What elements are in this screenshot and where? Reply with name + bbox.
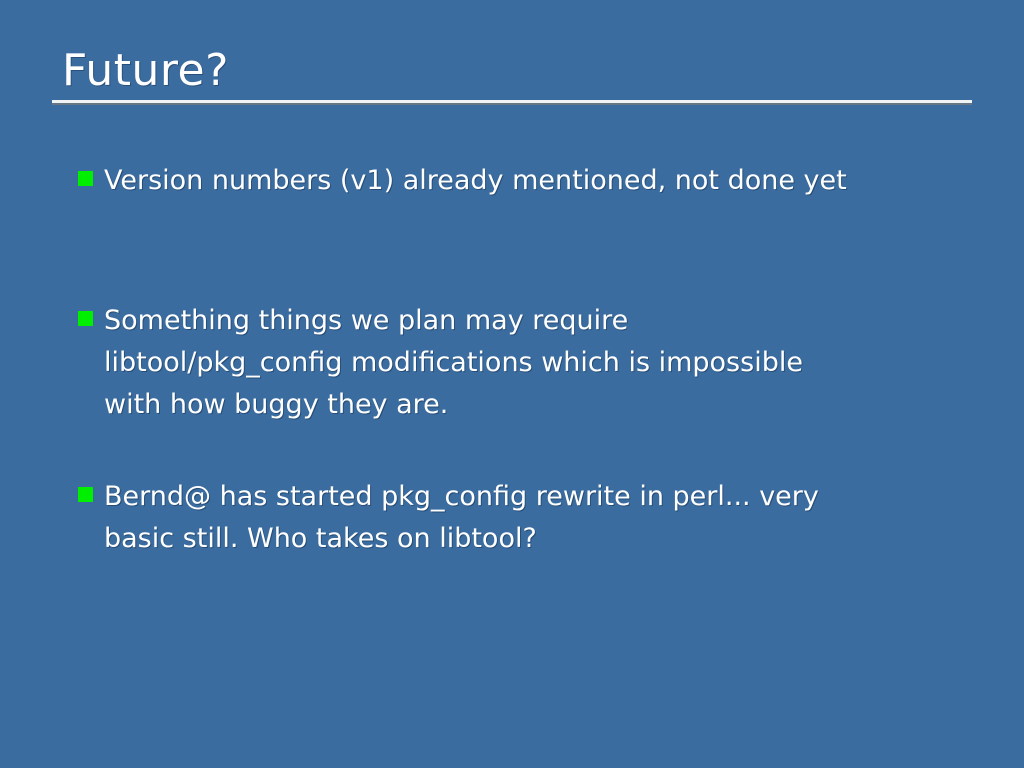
bullet-text: Version numbers (v1) already mentioned, …: [104, 160, 978, 202]
bullet-line: with how buggy they are.: [104, 384, 978, 426]
list-item: Bernd@ has started pkg_config rewrite in…: [78, 476, 978, 560]
bullet-line: basic still. Who takes on libtool?: [104, 518, 978, 560]
green-square-bullet-icon: [78, 311, 93, 326]
bullet-text: Something things we plan may require lib…: [104, 300, 978, 426]
page-title: Future?: [52, 44, 972, 98]
presentation-slide: Future? Version numbers (v1) already men…: [0, 0, 1024, 768]
bullet-text: Bernd@ has started pkg_config rewrite in…: [104, 476, 978, 560]
list-item: Something things we plan may require lib…: [78, 300, 978, 426]
title-underline-rule: [52, 100, 972, 103]
list-item: Version numbers (v1) already mentioned, …: [78, 160, 978, 202]
green-square-bullet-icon: [78, 171, 93, 186]
bullet-line: Bernd@ has started pkg_config rewrite in…: [104, 476, 978, 518]
bullet-line: Version numbers (v1) already mentioned, …: [104, 160, 978, 202]
bullet-list: Version numbers (v1) already mentioned, …: [78, 160, 978, 560]
slide-title-block: Future?: [52, 44, 972, 103]
bullet-line: libtool/pkg_config modifications which i…: [104, 342, 978, 384]
bullet-line: Something things we plan may require: [104, 300, 978, 342]
green-square-bullet-icon: [78, 487, 93, 502]
